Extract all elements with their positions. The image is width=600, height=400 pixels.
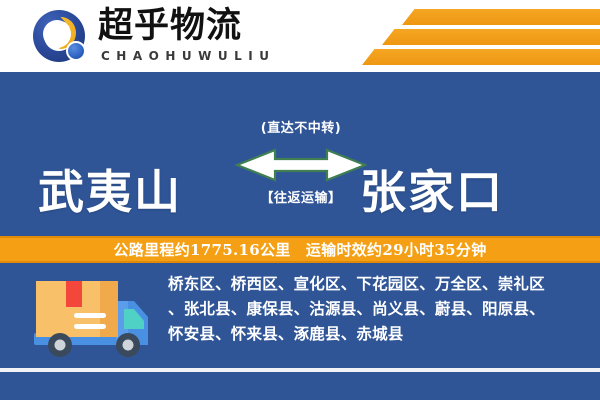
origin-city: 武夷山 (38, 164, 182, 220)
logo-dot-icon (66, 41, 86, 61)
distance-and-duration-text: 公路里程约1775.16公里 运输时效约29小时35分钟 (114, 239, 487, 260)
stripe-1 (402, 9, 600, 25)
destination-city: 张家口 (360, 164, 504, 220)
logo-inner-hole-2 (43, 20, 71, 48)
brand-name-en: CHAOHUWULIU (101, 49, 275, 63)
coverage-line-1: 桥东区、桥西区、宣化区、下花园区、万全区、崇礼区 (168, 272, 588, 297)
coverage-section: 桥东区、桥西区、宣化区、下花园区、万全区、崇礼区 、张北县、康保县、沽源县、尚义… (0, 263, 600, 400)
logistics-route-banner: 超乎物流 CHAOHUWULIU 武夷山 (直达不中转) 【往返运输】 张家口 … (0, 0, 600, 400)
coverage-area-list: 桥东区、桥西区、宣化区、下花园区、万全区、崇礼区 、张北县、康保县、沽源县、尚义… (168, 272, 588, 347)
bidirectional-arrow-icon (235, 148, 367, 182)
speed-stripes-icon (330, 0, 600, 72)
route-middle-group: (直达不中转) 【往返运输】 (237, 120, 365, 240)
stripe-2 (382, 29, 600, 45)
coverage-line-2: 、张北县、康保县、沽源县、尚义县、蔚县、阳原县、 (168, 297, 588, 322)
brand-name-cn: 超乎物流 (98, 7, 242, 45)
delivery-truck-icon (28, 273, 156, 365)
coverage-line-3: 怀安县、怀来县、涿鹿县、赤城县 (168, 322, 588, 347)
stripe-3 (362, 49, 600, 65)
direct-shipping-note: (直达不中转) (237, 120, 365, 138)
route-info-bar: 公路里程约1775.16公里 运输时效约29小时35分钟 (0, 236, 600, 263)
company-logo-icon (33, 8, 93, 64)
route-section: 武夷山 (直达不中转) 【往返运输】 张家口 (0, 72, 600, 236)
round-trip-note: 【往返运输】 (237, 190, 365, 208)
banner-header: 超乎物流 CHAOHUWULIU (0, 0, 600, 72)
road-divider-line (0, 368, 600, 372)
